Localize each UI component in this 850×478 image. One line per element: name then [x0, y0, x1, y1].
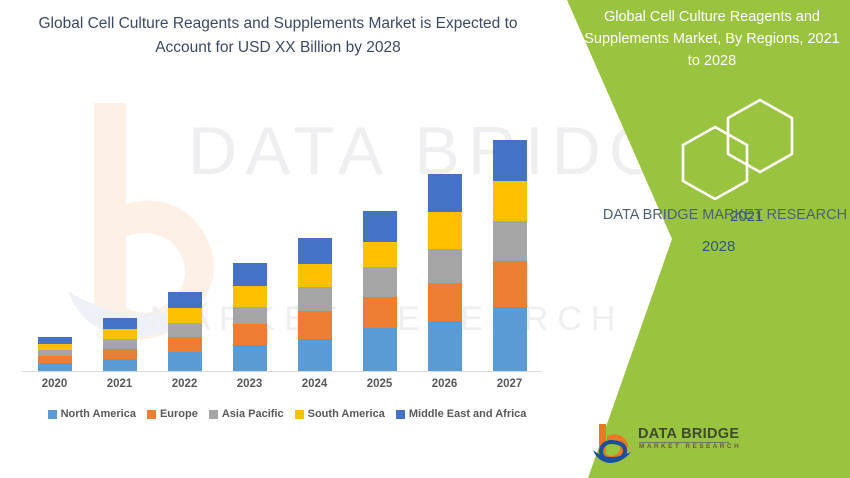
bar-segment-south-america [363, 242, 397, 267]
legend-label: Europe [160, 408, 198, 420]
stacked-bar [168, 292, 202, 371]
bar-column-2021 [87, 100, 152, 371]
bar-column-2024 [282, 100, 347, 371]
right-panel-brand: DATA BRIDGE MARKET RESEARCH [600, 204, 850, 226]
stacked-bar [493, 140, 527, 371]
page-title: Global Cell Culture Reagents and Supplem… [28, 12, 528, 60]
x-axis-label-2021: 2021 [87, 378, 152, 390]
bar-segment-north-america [38, 363, 72, 371]
bar-column-2027 [477, 100, 542, 371]
bar-column-2023 [217, 100, 282, 371]
bar-segment-south-america [233, 286, 267, 307]
stacked-bar-chart [22, 100, 542, 371]
bar-segment-south-america [103, 329, 137, 339]
bar-segment-europe [298, 311, 332, 339]
bar-segment-south-america [428, 212, 462, 248]
bar-segment-middle-east-and-africa [103, 318, 137, 329]
hexagon-2028-shape [683, 127, 747, 199]
logo-mark-icon [592, 422, 636, 466]
bar-segment-asia-pacific [493, 221, 527, 262]
x-axis-label-2027: 2027 [477, 378, 542, 390]
legend-label: Asia Pacific [222, 408, 284, 420]
bar-column-2026 [412, 100, 477, 371]
bar-segment-north-america [493, 307, 527, 371]
x-axis-label-2026: 2026 [412, 378, 477, 390]
bar-segment-middle-east-and-africa [298, 238, 332, 264]
legend-swatch-icon [396, 410, 405, 419]
legend-item-south-america[interactable]: South America [295, 408, 385, 420]
hexagon-badge-2028-label: 2028 [702, 238, 735, 255]
x-axis-label-2023: 2023 [217, 378, 282, 390]
legend-label: South America [308, 408, 385, 420]
bar-segment-north-america [298, 339, 332, 371]
logo-tagline: MARKET RESEARCH [639, 443, 741, 450]
legend-swatch-icon [147, 410, 156, 419]
bar-column-2022 [152, 100, 217, 371]
chart-legend: North AmericaEuropeAsia PacificSouth Ame… [22, 408, 552, 420]
bar-segment-europe [493, 261, 527, 307]
right-panel-title: Global Cell Culture Reagents and Supplem… [578, 6, 846, 72]
hexagon-2021-shape [728, 100, 792, 172]
bar-segment-europe [168, 337, 202, 353]
legend-swatch-icon [209, 410, 218, 419]
legend-label: North America [61, 408, 136, 420]
bar-segment-asia-pacific [168, 323, 202, 337]
bar-segment-north-america [168, 352, 202, 371]
bar-column-2020 [22, 100, 87, 371]
bar-segment-middle-east-and-africa [233, 263, 267, 286]
bar-segment-asia-pacific [363, 267, 397, 296]
logo-wordmark: DATA BRIDGE [638, 426, 739, 442]
hexagon-shapes [640, 95, 840, 200]
bar-segment-europe [103, 349, 137, 359]
legend-item-middle-east-and-africa[interactable]: Middle East and Africa [396, 408, 527, 420]
legend-label: Middle East and Africa [409, 408, 527, 420]
bar-segment-south-america [168, 308, 202, 323]
infographic-root: DATA BRIDGE MARKET RESEARCH Global Cell … [0, 0, 850, 478]
bar-column-2025 [347, 100, 412, 371]
data-bridge-logo: DATA BRIDGE MARKET RESEARCH [592, 420, 742, 466]
bar-segment-south-america [493, 181, 527, 221]
legend-swatch-icon [295, 410, 304, 419]
stacked-bar [38, 337, 72, 371]
bar-segment-north-america [233, 345, 267, 371]
bar-segment-europe [428, 283, 462, 321]
bar-segment-middle-east-and-africa [38, 337, 72, 345]
bar-segment-north-america [363, 328, 397, 371]
bar-segment-europe [38, 356, 72, 363]
hexagon-badges: 2021 2028 [640, 95, 840, 200]
bar-segment-middle-east-and-africa [493, 140, 527, 181]
bar-segment-middle-east-and-africa [428, 174, 462, 212]
bar-segment-asia-pacific [233, 307, 267, 324]
bar-segment-asia-pacific [103, 339, 137, 348]
legend-swatch-icon [48, 410, 57, 419]
stacked-bar [233, 263, 267, 371]
legend-item-north-america[interactable]: North America [48, 408, 136, 420]
bar-segment-north-america [428, 321, 462, 371]
bar-segment-middle-east-and-africa [168, 292, 202, 308]
bar-segment-north-america [103, 359, 137, 371]
stacked-bar [428, 174, 462, 371]
bar-segment-south-america [298, 264, 332, 287]
bar-segment-asia-pacific [428, 249, 462, 284]
x-axis-label-2020: 2020 [22, 378, 87, 390]
x-axis-label-2022: 2022 [152, 378, 217, 390]
bar-segment-europe [233, 324, 267, 345]
stacked-bar [103, 318, 137, 371]
stacked-bar [298, 238, 332, 371]
legend-item-asia-pacific[interactable]: Asia Pacific [209, 408, 284, 420]
x-axis-label-2025: 2025 [347, 378, 412, 390]
bar-segment-middle-east-and-africa [363, 211, 397, 243]
x-axis-line [22, 371, 542, 372]
stacked-bar [363, 211, 397, 371]
x-axis-labels: 20202021202220232024202520262027 [22, 378, 542, 390]
x-axis-label-2024: 2024 [282, 378, 347, 390]
chart-region: DATA BRIDGE MARKET RESEARCH Global Cell … [0, 0, 570, 478]
bar-segment-europe [363, 297, 397, 328]
bar-segment-asia-pacific [298, 287, 332, 311]
legend-item-europe[interactable]: Europe [147, 408, 198, 420]
